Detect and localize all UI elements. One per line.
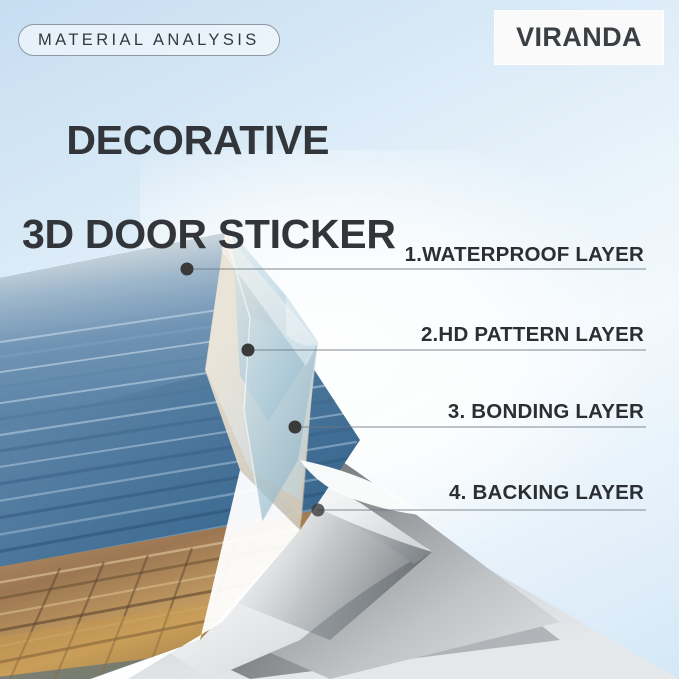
callout-label-1: 1.WATERPROOF LAYER: [372, 243, 644, 271]
eyebrow-badge-label: MATERIAL ANALYSIS: [38, 31, 260, 50]
page-title: DECORATIVE 3D DOOR STICKER: [22, 70, 396, 352]
page-title-line-1: DECORATIVE: [66, 117, 329, 163]
eyebrow-badge: MATERIAL ANALYSIS: [18, 24, 280, 56]
callout-backing-layer: 4. BACKING LAYER: [372, 481, 644, 509]
callout-label-2: 2.HD PATTERN LAYER: [372, 323, 644, 351]
callout-label-3: 3. BONDING LAYER: [372, 400, 644, 428]
callout-label-4: 4. BACKING LAYER: [372, 481, 644, 509]
callout-bonding-layer: 3. BONDING LAYER: [372, 400, 644, 428]
poster-canvas: 1.WATERPROOF LAYER 2.HD PATTERN LAYER 3.…: [0, 0, 679, 679]
brand-logo-plate: VIRANDA: [495, 11, 663, 64]
brand-name: VIRANDA: [516, 22, 642, 53]
callout-waterproof-layer: 1.WATERPROOF LAYER: [372, 243, 644, 271]
callout-hd-pattern-layer: 2.HD PATTERN LAYER: [372, 323, 644, 351]
page-title-line-2: 3D DOOR STICKER: [22, 211, 396, 258]
